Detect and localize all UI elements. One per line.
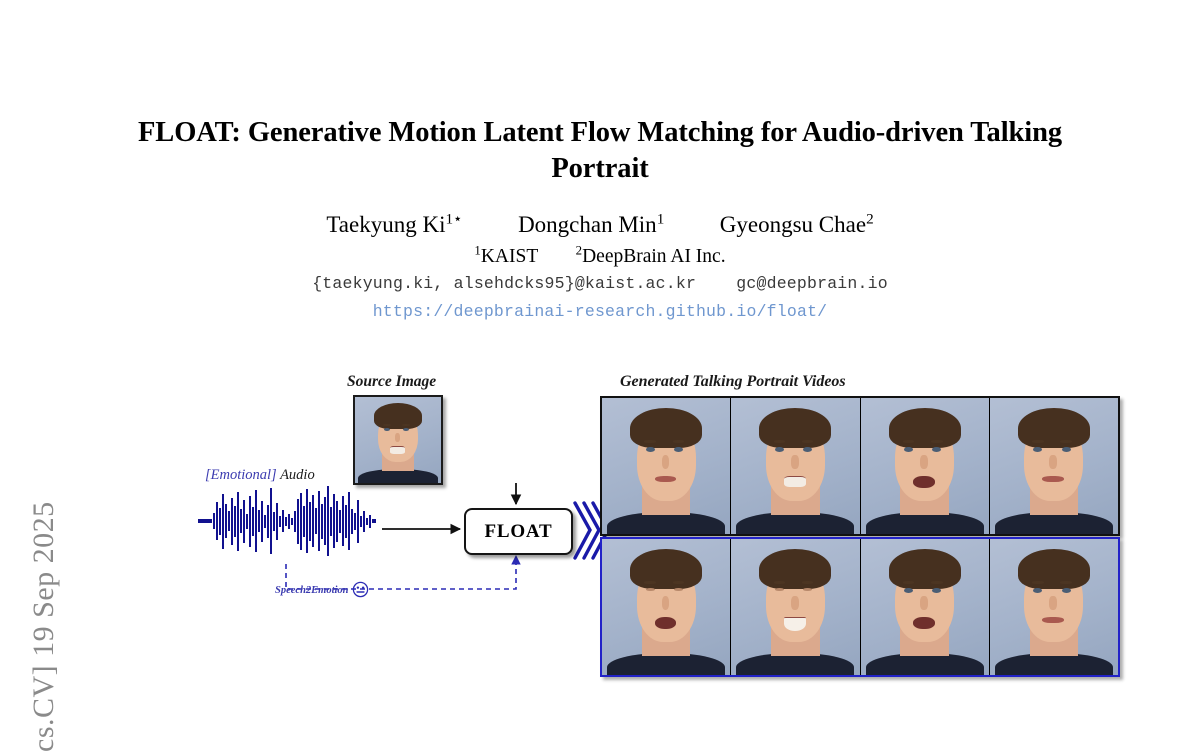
teaser-figure: Source Image Generated Talking Portrait …: [120, 368, 1080, 648]
arxiv-stamp-text: cs.CV] 19 Sep 2025: [27, 501, 61, 752]
speech2emotion-label: Speech2Emotion: [275, 585, 349, 596]
paper-column: FLOAT: Generative Motion Latent Flow Mat…: [120, 0, 1080, 648]
video-frame: [990, 539, 1118, 675]
contact-emails: {taekyung.ki, alsehdcks95}@kaist.ac.kr g…: [130, 274, 1070, 293]
video-frame: [602, 398, 731, 534]
affiliation-2: 2DeepBrain AI Inc.: [576, 246, 726, 267]
video-frame: [990, 398, 1118, 534]
video-frame: [861, 398, 990, 534]
author-2: Dongchan Min1: [518, 210, 664, 240]
email-secondary: gc@deepbrain.io: [736, 274, 888, 293]
email-primary: {taekyung.ki, alsehdcks95}@kaist.ac.kr: [312, 274, 696, 293]
affiliation-1: 1KAIST: [474, 246, 538, 267]
affiliation-list: 1KAIST 2DeepBrain AI Inc.: [130, 244, 1070, 269]
author-1-marks: 1⋆: [445, 210, 462, 227]
video-frame: [861, 539, 990, 675]
author-2-name: Dongchan Min: [518, 212, 657, 237]
model-box-float[interactable]: FLOAT: [464, 508, 573, 555]
author-2-marks: 1: [657, 210, 665, 227]
video-frame: [731, 398, 860, 534]
page-title: FLOAT: Generative Motion Latent Flow Mat…: [130, 115, 1070, 187]
author-list: Taekyung Ki1⋆ Dongchan Min1 Gyeongsu Cha…: [130, 210, 1070, 240]
generated-video-row-2: [600, 537, 1120, 677]
affiliation-1-name: KAIST: [481, 246, 538, 267]
author-3-name: Gyeongsu Chae: [720, 212, 866, 237]
model-box-label: FLOAT: [484, 521, 552, 543]
generated-video-row-1: [600, 396, 1120, 536]
video-frame: [731, 539, 860, 675]
author-1-name: Taekyung Ki: [326, 212, 445, 237]
author-3: Gyeongsu Chae2: [720, 210, 874, 240]
video-frame: [602, 539, 731, 675]
affiliation-2-name: DeepBrain AI Inc.: [582, 246, 726, 267]
arxiv-vertical-stamp: cs.CV] 19 Sep 2025: [24, 192, 64, 752]
author-1: Taekyung Ki1⋆: [326, 210, 462, 240]
project-page-link[interactable]: https://deepbrainai-research.github.io/f…: [130, 302, 1070, 321]
author-3-marks: 2: [866, 210, 874, 227]
smiley-face-icon: [352, 581, 369, 598]
